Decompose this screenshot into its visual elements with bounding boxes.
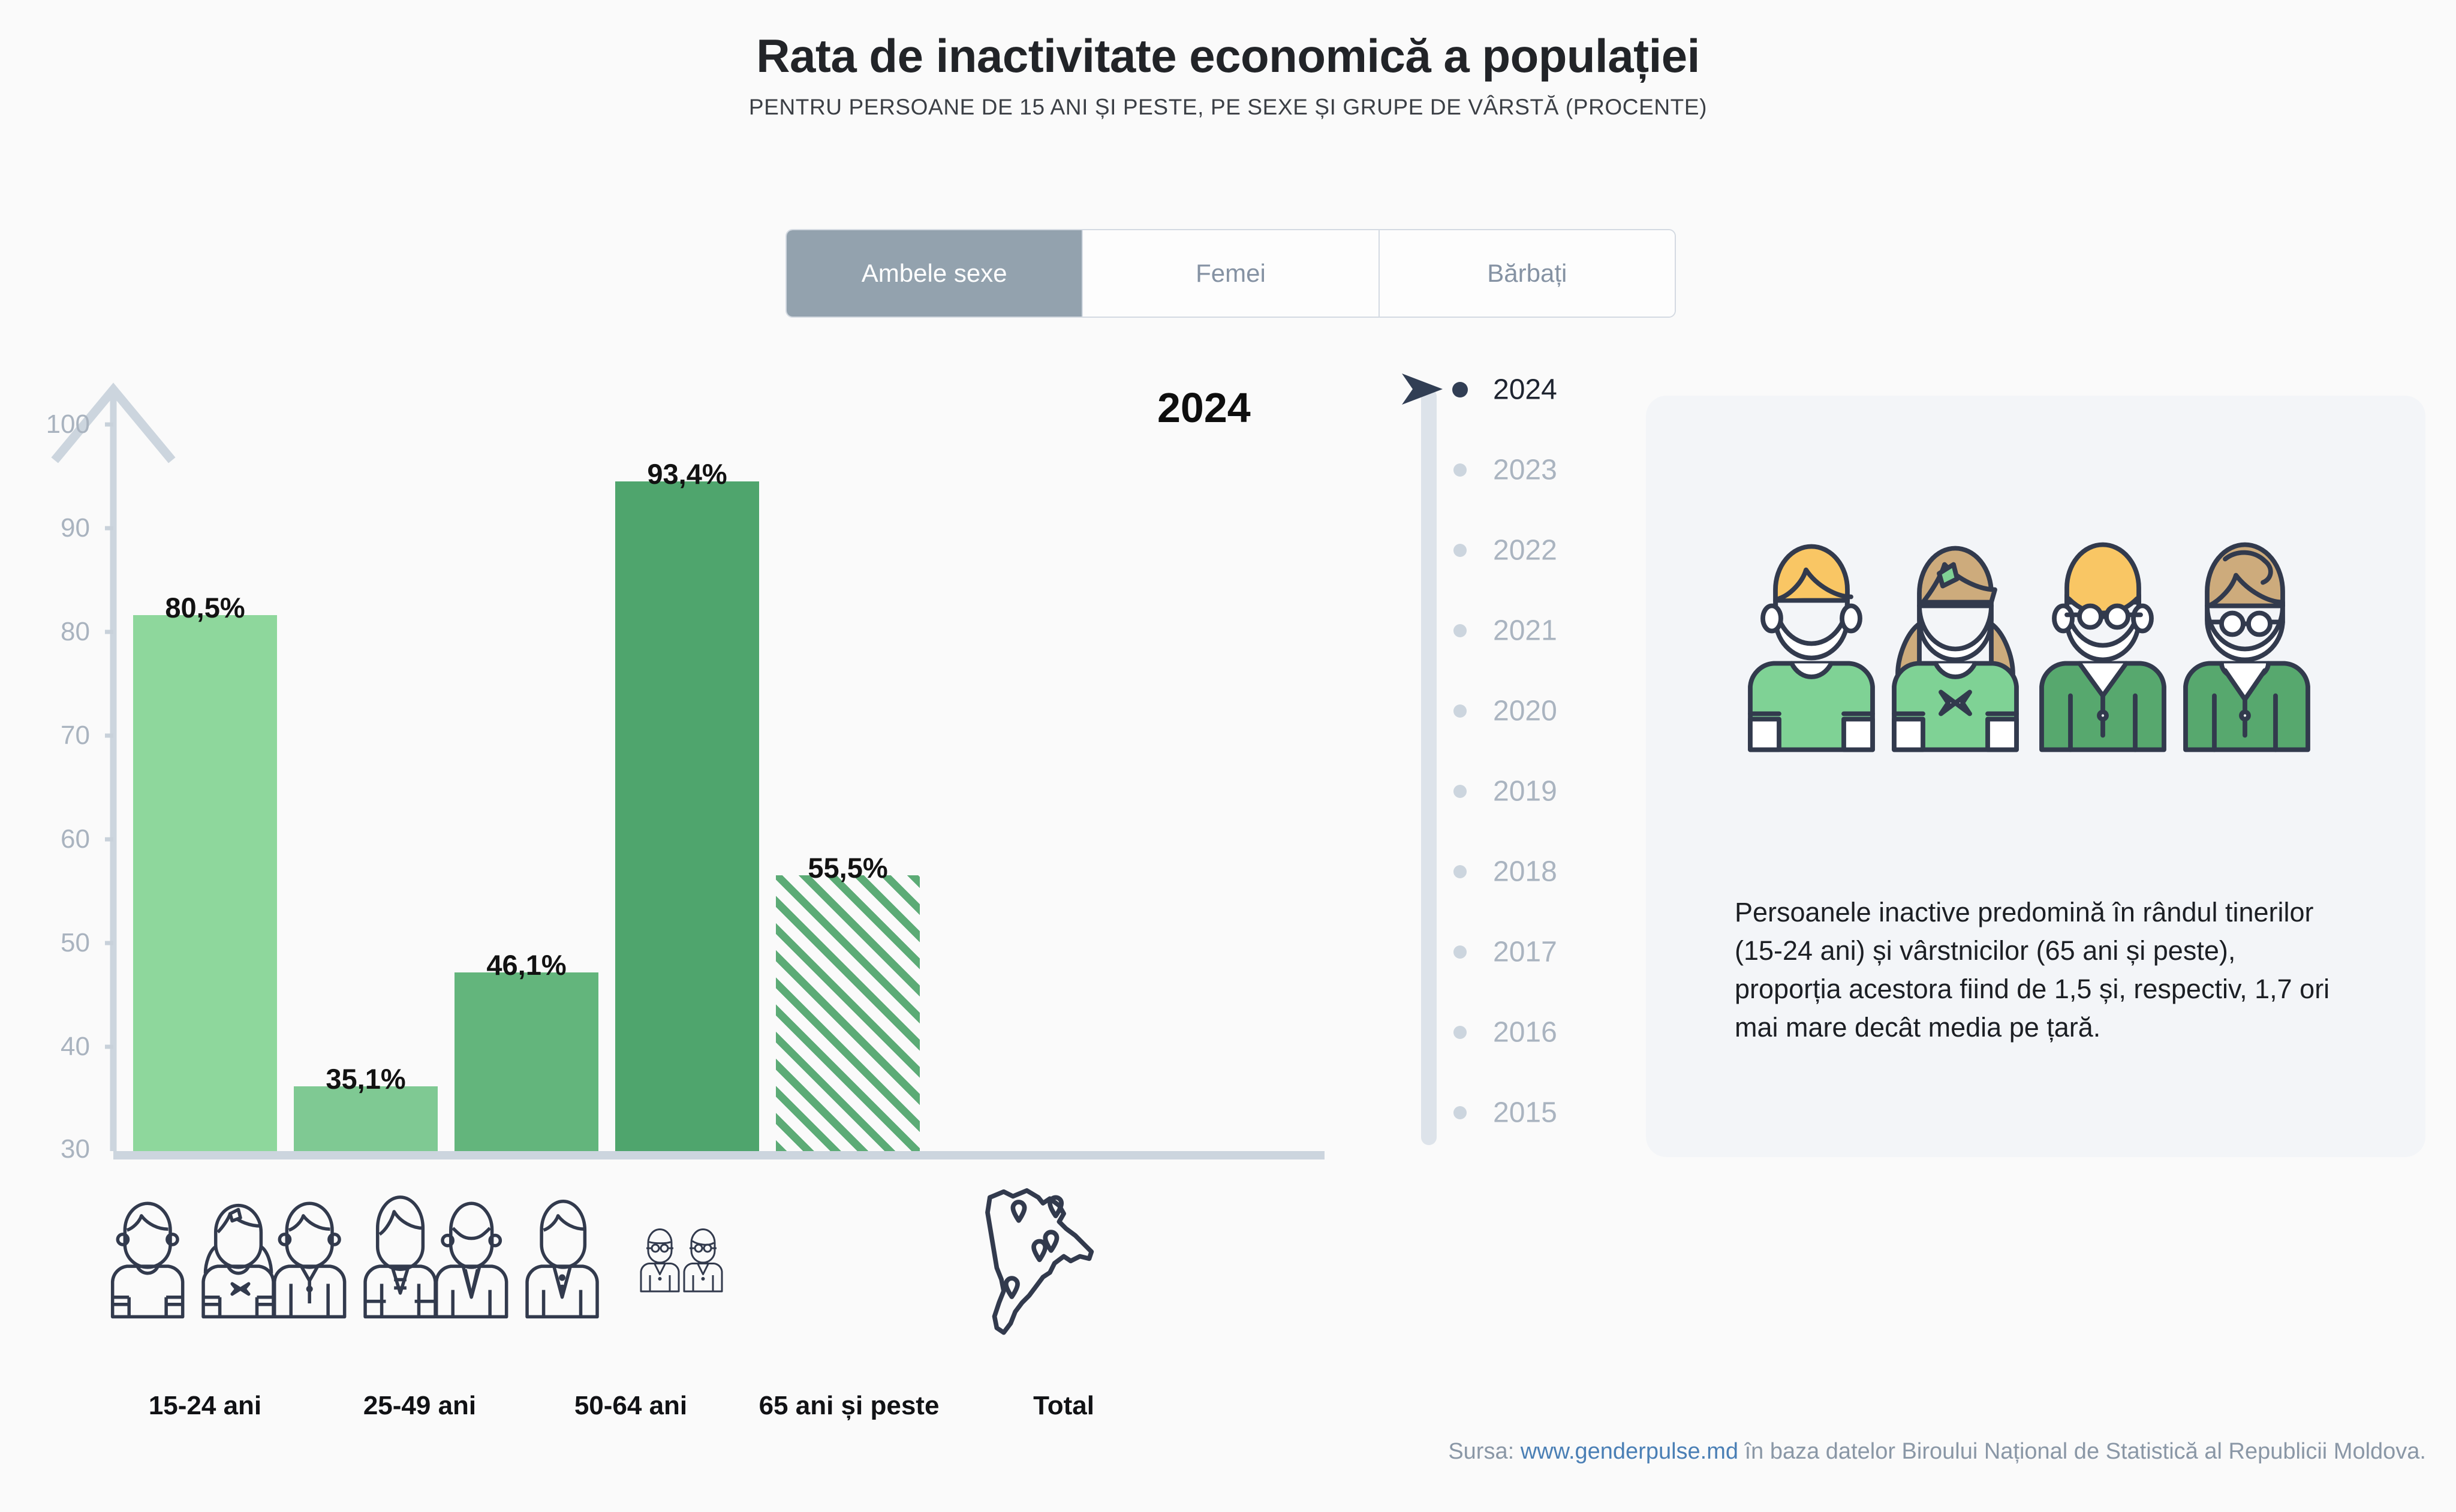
timeline-dot bbox=[1453, 624, 1467, 637]
y-tick-label-100: 100 bbox=[12, 409, 90, 439]
timeline-year-label: 2015 bbox=[1493, 1097, 1557, 1130]
source-suffix: în baza datelor Biroului Național de Sta… bbox=[1738, 1439, 2426, 1464]
timeline-dot bbox=[1453, 1106, 1467, 1119]
page-title: Rata de inactivitate economică a populaț… bbox=[0, 29, 2456, 83]
timeline-dot bbox=[1453, 463, 1467, 477]
timeline-item-2018[interactable]: 2018 bbox=[1403, 860, 1661, 884]
bar-total[interactable] bbox=[776, 875, 920, 1151]
timeline-year-label: 2023 bbox=[1493, 454, 1557, 487]
x-label-50-64: 50-64 ani bbox=[574, 1391, 687, 1421]
bar-value-50-64: 46,1% bbox=[486, 948, 566, 981]
y-tick-label-80: 80 bbox=[12, 617, 90, 647]
timeline-year-label: 2024 bbox=[1493, 374, 1557, 406]
timeline-year-label: 2021 bbox=[1493, 615, 1557, 647]
timeline-dot bbox=[1453, 704, 1467, 718]
x-label-25-49: 25-49 ani bbox=[363, 1391, 476, 1421]
timeline-item-2021[interactable]: 2021 bbox=[1403, 619, 1661, 643]
insight-text: Persoanele inactive predomină în rândul … bbox=[1735, 893, 2340, 1047]
category-icon-row bbox=[0, 1193, 1349, 1343]
tab-ambele-sexe[interactable]: Ambele sexe bbox=[787, 230, 1083, 317]
timeline-year-label: 2018 bbox=[1493, 856, 1557, 888]
timeline-item-2024[interactable]: 2024 bbox=[1403, 378, 1661, 402]
timeline-item-2015[interactable]: 2015 bbox=[1403, 1101, 1661, 1125]
year-timeline: 2024 2023 2022 2021 2020 2019 2018 2017 bbox=[1403, 378, 1661, 1163]
y-tick-mark-50 bbox=[105, 941, 113, 945]
timeline-item-2016[interactable]: 2016 bbox=[1403, 1020, 1661, 1044]
y-tick-label-40: 40 bbox=[12, 1032, 90, 1062]
bar-65-plus[interactable] bbox=[615, 481, 759, 1151]
page-subtitle: PENTRU PERSOANE DE 15 ANI ȘI PESTE, PE S… bbox=[0, 95, 2456, 120]
chart-year-label: 2024 bbox=[1157, 384, 1251, 432]
moldova-map-icon bbox=[977, 1187, 1106, 1343]
bar-25-49[interactable] bbox=[294, 1086, 438, 1151]
sex-tab-group: Ambele sexe Femei Bărbați bbox=[785, 229, 1676, 318]
y-tick-mark-70 bbox=[105, 734, 113, 738]
y-tick-label-30: 30 bbox=[12, 1134, 90, 1164]
y-tick-label-70: 70 bbox=[12, 721, 90, 751]
x-label-15-24: 15-24 ani bbox=[149, 1391, 261, 1421]
timeline-year-label: 2022 bbox=[1493, 534, 1557, 567]
timeline-item-2022[interactable]: 2022 bbox=[1403, 538, 1661, 562]
bar-value-15-24: 80,5% bbox=[165, 591, 245, 624]
bar-chart: 100 90 80 70 60 50 40 30 80,5% 35,1% 46,… bbox=[0, 372, 1349, 1163]
timeline-dot bbox=[1453, 1026, 1467, 1039]
insight-card: Persoanele inactive predomină în rândul … bbox=[1646, 396, 2425, 1157]
timeline-dot bbox=[1453, 865, 1467, 878]
bar-value-total: 55,5% bbox=[808, 851, 887, 884]
infographic-page: Rata de inactivitate economică a populaț… bbox=[0, 0, 2456, 1512]
timeline-selector-arrow-icon bbox=[1402, 374, 1450, 406]
y-tick-label-50: 50 bbox=[12, 928, 90, 958]
tab-femei[interactable]: Femei bbox=[1083, 230, 1379, 317]
timeline-year-label: 2016 bbox=[1493, 1016, 1557, 1049]
timeline-item-2019[interactable]: 2019 bbox=[1403, 779, 1661, 803]
bar-value-25-49: 35,1% bbox=[326, 1062, 405, 1095]
source-footer: Sursa: www.genderpulse.md în baza datelo… bbox=[0, 1439, 2456, 1465]
tab-barbati[interactable]: Bărbați bbox=[1380, 230, 1675, 317]
timeline-item-2017[interactable]: 2017 bbox=[1403, 940, 1661, 964]
timeline-dot bbox=[1453, 785, 1467, 798]
y-tick-mark-40 bbox=[105, 1045, 113, 1049]
y-tick-mark-80 bbox=[105, 630, 113, 634]
timeline-year-label: 2019 bbox=[1493, 775, 1557, 808]
y-tick-label-90: 90 bbox=[12, 513, 90, 543]
timeline-item-2020[interactable]: 2020 bbox=[1403, 699, 1661, 723]
two-elderly-people-icon bbox=[636, 1223, 735, 1295]
two-mature-adults-icon bbox=[426, 1193, 633, 1322]
bar-50-64[interactable] bbox=[455, 972, 598, 1151]
timeline-item-2023[interactable]: 2023 bbox=[1403, 458, 1661, 482]
timeline-year-label: 2020 bbox=[1493, 695, 1557, 728]
source-prefix: Sursa: bbox=[1448, 1439, 1520, 1464]
bar-15-24[interactable] bbox=[133, 615, 277, 1151]
y-tick-label-60: 60 bbox=[12, 824, 90, 854]
x-label-total: Total bbox=[1033, 1391, 1094, 1421]
timeline-dot bbox=[1452, 382, 1468, 397]
timeline-year-label: 2017 bbox=[1493, 936, 1557, 969]
y-tick-mark-100 bbox=[105, 423, 113, 427]
y-tick-mark-90 bbox=[105, 526, 113, 531]
y-tick-mark-60 bbox=[105, 838, 113, 842]
timeline-dot bbox=[1453, 945, 1467, 959]
genderpulse-link[interactable]: www.genderpulse.md bbox=[1521, 1439, 1738, 1464]
timeline-dot bbox=[1453, 544, 1467, 557]
x-label-65-plus: 65 ani și peste bbox=[759, 1391, 940, 1421]
four-people-illustration bbox=[1736, 534, 2347, 755]
bar-value-65-plus: 93,4% bbox=[647, 457, 727, 490]
